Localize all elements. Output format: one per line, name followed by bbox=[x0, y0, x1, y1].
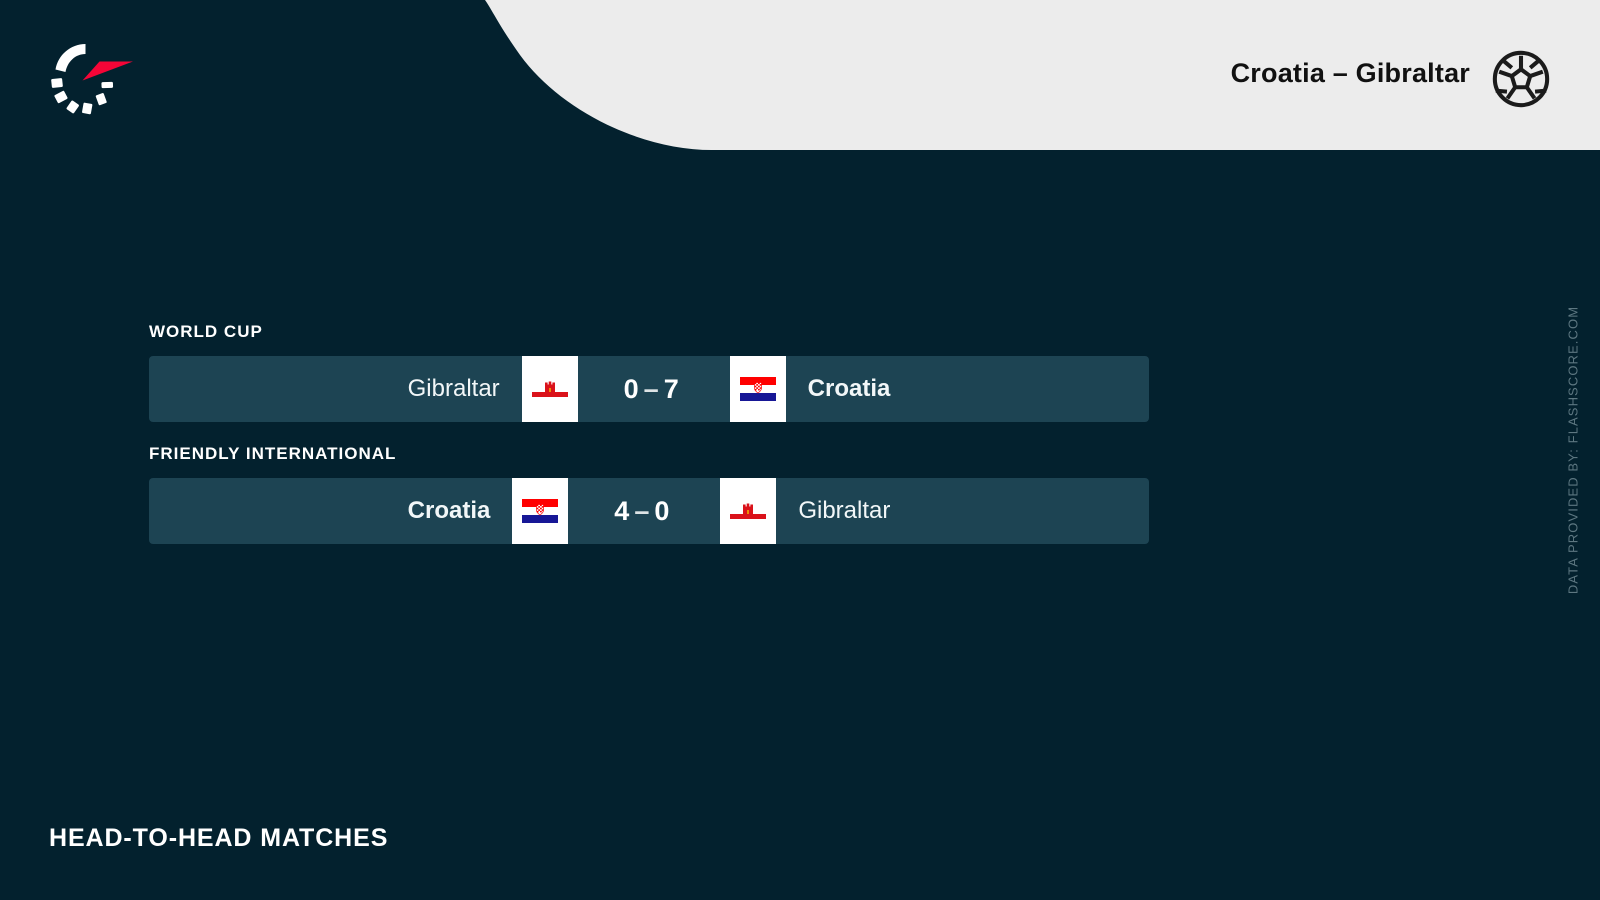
match-score: 0 – 7 bbox=[578, 356, 730, 422]
match-score: 4 – 0 bbox=[568, 478, 720, 544]
flashscore-logo[interactable] bbox=[44, 40, 134, 120]
table-row[interactable]: Croatia bbox=[149, 478, 1149, 544]
away-score: 0 bbox=[654, 496, 674, 527]
gibraltar-flag bbox=[522, 356, 578, 422]
home-team-name: Gibraltar bbox=[149, 356, 522, 422]
gibraltar-flag bbox=[720, 478, 776, 544]
away-team-name: Croatia bbox=[786, 356, 1149, 422]
competition-label-world-cup: WORLD CUP bbox=[149, 322, 1149, 342]
footer-heading: HEAD-TO-HEAD MATCHES bbox=[49, 824, 388, 853]
data-attribution: DATA PROVIDED BY: FLASHSCORE.COM bbox=[1565, 306, 1580, 594]
home-score: 0 bbox=[624, 374, 644, 405]
screenshot-root: Croatia – Gibraltar WORLD CUP Gibralta bbox=[0, 0, 1600, 900]
competition-label-friendly-international: FRIENDLY INTERNATIONAL bbox=[149, 444, 1149, 464]
croatia-flag bbox=[512, 478, 568, 544]
head-to-head-match-list: WORLD CUP Gibraltar 0 – 7 bbox=[149, 322, 1149, 544]
score-separator: – bbox=[644, 374, 664, 405]
home-score: 4 bbox=[614, 496, 634, 527]
home-team-name: Croatia bbox=[149, 478, 512, 544]
croatia-flag bbox=[730, 356, 786, 422]
table-row[interactable]: Gibraltar 0 – 7 bbox=[149, 356, 1149, 422]
away-score: 7 bbox=[664, 374, 684, 405]
away-team-name: Gibraltar bbox=[776, 478, 1149, 544]
soccer-ball-icon bbox=[1490, 48, 1552, 110]
page-title: Croatia – Gibraltar bbox=[1231, 58, 1470, 89]
score-separator: – bbox=[634, 496, 654, 527]
